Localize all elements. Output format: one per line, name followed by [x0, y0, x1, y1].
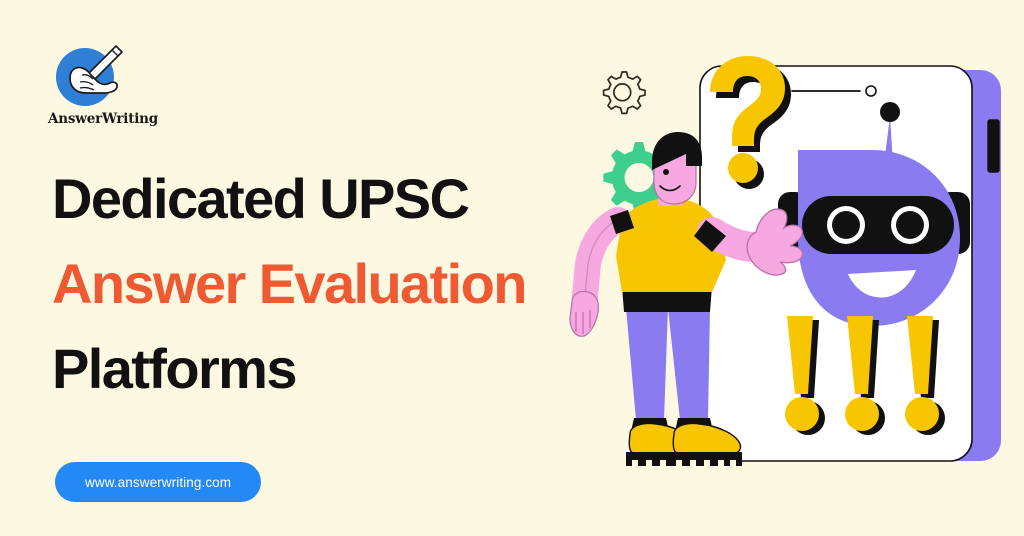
illustration-svg: [560, 20, 1024, 520]
headline-line-1: Dedicated UPSC: [52, 156, 572, 241]
robot-visor: [802, 196, 954, 254]
headline-line-3: Platforms: [52, 326, 572, 411]
hero-illustration: [560, 20, 1024, 520]
headline-line-2: Answer Evaluation: [52, 241, 572, 326]
logo[interactable]: AnswerWriting: [48, 48, 208, 127]
phone-side-button: [988, 120, 999, 172]
hand-writing-pencil-icon: [60, 44, 130, 106]
person-leg-front: [668, 308, 710, 420]
gear-outline-icon: [604, 72, 645, 113]
page-title: Dedicated UPSC Answer Evaluation Platfor…: [52, 156, 572, 411]
logo-mark: [56, 48, 130, 106]
logo-wordmark: AnswerWriting: [48, 111, 208, 127]
exclamation-marks-group: [785, 316, 945, 435]
person-leg-back: [626, 308, 668, 420]
website-url-label: www.answerwriting.com: [85, 475, 231, 490]
phone-camera-icon: [866, 86, 876, 96]
banner-root: AnswerWriting Dedicated UPSC Answer Eval…: [0, 0, 1024, 536]
website-url-button[interactable]: www.answerwriting.com: [55, 462, 261, 502]
